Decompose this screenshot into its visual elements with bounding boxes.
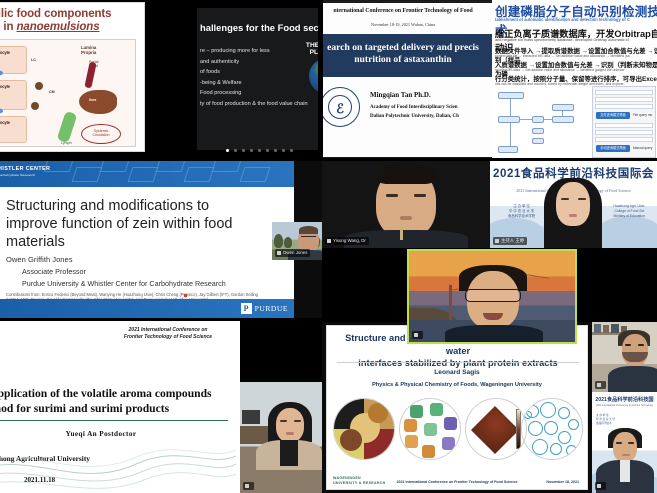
background-title-cn: 2021食品科学前沿科技国 (592, 396, 657, 403)
slide-subtitle-en: and negative ion mass spectrometry datab… (495, 38, 657, 42)
list-item: ty of food production & the food value c… (200, 99, 318, 110)
participant-name-badge (243, 482, 254, 490)
speaker-role: Associate Professor (22, 267, 86, 276)
shared-slide-astaxanthin[interactable]: nternational Conference on Frontier Tech… (322, 0, 492, 160)
speaker-affiliation-2: Dalian Polytechnic University, Dalian, C… (370, 114, 492, 119)
list-item: Food processing (200, 88, 318, 99)
participant-head (276, 408, 304, 442)
shared-slide-phospholipid-detection[interactable]: 创建磷脂分子自动识别检测技术 tablishment of automatic … (492, 0, 657, 160)
shared-slide-sagis-interfaces[interactable]: Structure and mechanical properties of a… (322, 322, 592, 493)
participant-torso (445, 325, 543, 344)
participant-name-badge (412, 331, 423, 339)
slide-title-en: tablishment of automatic identification … (495, 17, 657, 22)
slide-title: hallenges for the Food sector (200, 22, 322, 33)
slide-canvas: Structure and mechanical properties of a… (326, 325, 588, 490)
participant-head (556, 182, 590, 226)
webcam-tile-host[interactable]: 2021食品科学前沿科技国际会议 （第二届于线举办） 2021 Internat… (490, 160, 657, 248)
step-en-2: nported MS data → Set addition value and… (495, 68, 657, 72)
speaker-block: Mingqian Tan Ph.D. Academy of Food Inter… (370, 91, 492, 119)
participant-name-badge: 主持人 王婷 (493, 237, 527, 245)
divider (0, 420, 228, 421)
webcam-tile-leonard-sagis[interactable] (592, 322, 657, 392)
speaker-name: Mingqian Tan Ph.D. (370, 91, 492, 99)
tile-divider (194, 0, 197, 160)
slide-canvas: ipophilic food components ulated in nano… (0, 2, 145, 152)
purdue-logo: P PURDUE (241, 303, 288, 314)
slide-canvas: hallenges for the Food sector re – produ… (196, 8, 322, 150)
bullet-list: re – producing more for less and authent… (200, 46, 318, 110)
shared-slide-nanoemulsion[interactable]: ipophilic food components ulated in nano… (0, 0, 196, 160)
shared-slide-surimi[interactable]: 2021 International Conference onFrontier… (0, 320, 240, 493)
background-left-text: 主 办 单 位华 中 农 业 大 学食品科学技术 (596, 414, 615, 426)
whistler-header-band: HISTLER CENTER Carbohydrate Research (0, 161, 294, 187)
liver-shape (79, 90, 117, 114)
speaker-department: Purdue University & Whistler Center for … (22, 279, 226, 288)
slide-title: nd application of the volatile aroma com… (0, 386, 230, 416)
figure-foam-microstructure (521, 398, 583, 460)
eyeglasses-icon (465, 289, 521, 302)
slide-title: Structuring and modifications to improve… (6, 197, 244, 251)
university-seal-icon: ℰ (322, 87, 360, 127)
background-left-text: 主 办 单 位华 中 农 业 大 学食品科学技术学院 (508, 204, 535, 219)
tile-divider (318, 0, 323, 160)
webcam-tile-woman-office[interactable] (240, 382, 322, 493)
list-item: of foods (200, 67, 318, 78)
conference-header: nternational Conference on Frontier Tech… (322, 8, 492, 14)
query-button-1[interactable]: 文件查询模式界面 (596, 112, 630, 119)
slide-canvas: HISTLER CENTER Carbohydrate Research Str… (0, 161, 294, 319)
whistler-center-logo: HISTLER CENTER Carbohydrate Research (0, 166, 50, 177)
webcam-tile-owen-jones[interactable]: Owen Jones (272, 222, 322, 260)
speaker-name: Owen Griffith Jones (6, 255, 73, 264)
desk (240, 426, 270, 444)
webcam-tile-yisong-wang[interactable]: Yisong Wang, Dr (322, 160, 490, 248)
wave-decoration (0, 434, 236, 492)
shared-slide-food-sector-challenges[interactable]: hallenges for the Food sector re – produ… (196, 0, 322, 160)
participant-head (613, 432, 637, 462)
participant-torso (608, 366, 657, 392)
lamina-propria-label: LaminaPropria (81, 45, 131, 56)
participant-name-badge: Owen Jones (275, 249, 310, 257)
title-band: earch on targeted delivery and precisnut… (322, 34, 492, 77)
figure-afm-image: 40 nm (465, 398, 527, 460)
video-conference-gallery: ipophilic food components ulated in nano… (0, 0, 657, 493)
lymph-shape (57, 111, 78, 143)
list-item: re – producing more for less (200, 46, 318, 57)
purdue-mark-icon: P (241, 303, 252, 314)
enterocyte-cell: Enterocyte (0, 46, 27, 74)
laser-pointer-dot (184, 294, 187, 297)
webcam-tile-attendee[interactable]: 2021食品科学前沿科技国 2021 International Confere… (592, 392, 657, 493)
list-item: and authenticity (200, 57, 318, 68)
slide-footer-band: P PURDUE (0, 299, 294, 319)
flowchart-diagram (496, 88, 588, 158)
query-caption-2: Manual query (633, 146, 657, 150)
enterocyte-cell: Enterocyte (0, 80, 27, 110)
figure-protein-structures (399, 398, 461, 460)
slide-pagination[interactable] (196, 149, 322, 152)
intestinal-absorption-diagram: Enterocyte Enterocyte Enterocyte LaminaP… (0, 39, 136, 147)
background-subtitle-en: 2021 International Conference on Frontie… (592, 404, 657, 407)
participant-name-badge (595, 482, 606, 490)
monitor (242, 410, 260, 424)
enterocyte-cell: Enterocyte (0, 116, 27, 143)
query-caption-1: File query mo (633, 113, 657, 117)
conference-date-location: November 18-19, 2021 Wuhan, China (322, 22, 492, 27)
slide-canvas: nternational Conference on Frontier Tech… (322, 3, 492, 157)
webcam-tile-active-speaker[interactable] (407, 249, 577, 344)
divider (337, 362, 579, 363)
figure-seeds (333, 398, 395, 460)
query-button-2[interactable]: 手动查询模式界面 (596, 145, 630, 152)
participant-name-badge: Yisong Wang, Dr (325, 237, 369, 245)
list-item: -being & Welfare (200, 78, 318, 89)
slide-canvas: 2021 International Conference onFrontier… (0, 322, 236, 492)
speaker-affiliation-1: Academy of Food Interdisciplinary Scien (370, 105, 492, 110)
speaker-affiliation: Physics & Physical Chemistry of Foods, W… (327, 382, 587, 388)
software-screenshot-panel: 文件查询模式界面 File query mo 手动查询模式界面 Manual q… (592, 86, 656, 158)
background-right-text: Huazhong Agri. Univ.College of Food Sci.… (613, 204, 645, 219)
slide-footer-date: November 18, 2021 (546, 480, 579, 484)
participant-name-badge (595, 381, 606, 389)
tile-divider (0, 158, 657, 161)
slide-title: ipophilic food components ulated in nano… (0, 8, 143, 34)
speaker-name: Leonard Sagis (327, 369, 587, 376)
step-en-1: ported data file → extracted MS data → S… (495, 54, 657, 58)
conference-header: 2021 International Conference onFrontier… (108, 327, 228, 341)
